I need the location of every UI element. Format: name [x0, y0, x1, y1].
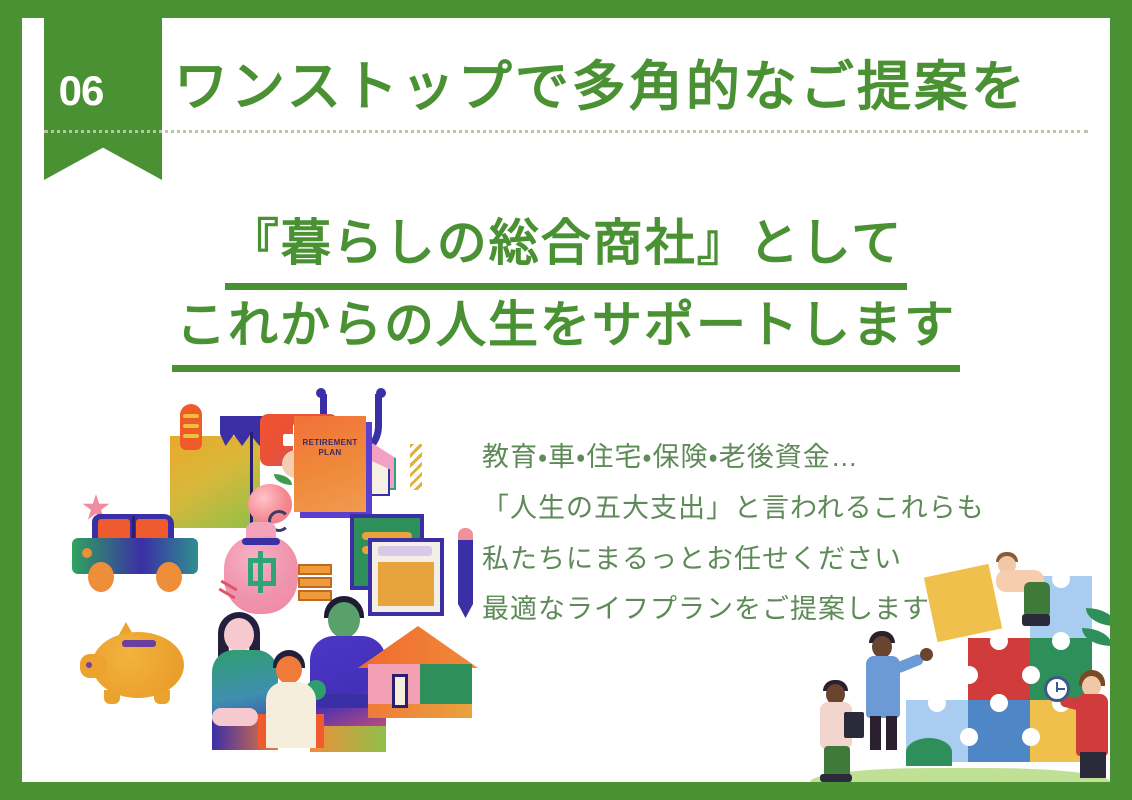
header-title: ワンストップで多角的なご提案を [174, 56, 1094, 118]
folder-label-line-1: RETIREMENT [303, 438, 358, 447]
worker-right-legs-icon [1080, 752, 1106, 778]
clock-hand-icon [1056, 682, 1058, 692]
piggy-bank-leg-icon [154, 690, 170, 704]
worker-top-legs-icon [1024, 582, 1050, 618]
body-line-1: 教育・車・住宅・保険・老後資金… [482, 432, 1102, 483]
puzzle-knob-icon [1022, 666, 1040, 684]
coin-stack-icon [298, 577, 332, 588]
puzzle-knob-icon [990, 632, 1008, 650]
worker-blue-leg-icon [886, 716, 897, 750]
family-father-head-icon [328, 602, 360, 638]
squiggle-icon [410, 444, 422, 490]
family-child-head-icon [276, 656, 302, 684]
puzzle-knob-icon [960, 728, 978, 746]
retirement-plan-folder-icon [294, 416, 366, 512]
stethoscope-earpiece-icon [316, 388, 326, 398]
body-line-2: 「人生の五大支出」と言われるこれらも [482, 483, 1102, 534]
money-bag-tie-icon [242, 538, 280, 545]
family-child-icon [266, 682, 316, 748]
house-base-icon [368, 704, 472, 718]
puzzle-knob-icon [1022, 728, 1040, 746]
coin-stack-icon [298, 564, 332, 575]
grass-ground-icon [810, 768, 1110, 782]
life-expenses-illustration-group: RETIREMENT PLAN [62, 388, 492, 788]
money-symbol-icon [258, 551, 263, 593]
teamwork-puzzle-illustration-group [810, 552, 1110, 782]
worker-blue-leg-icon [870, 716, 881, 750]
puzzle-piece-held-icon [924, 564, 1002, 642]
headline-line-1: 『暮らしの総合商社』として [225, 208, 908, 290]
piggy-bank-snout-icon [80, 654, 106, 678]
section-number-label: 06 [22, 70, 140, 112]
worker-left-boot-icon [820, 774, 852, 782]
clock-hand-icon [1056, 688, 1065, 690]
slide-canvas: 06 ワンストップで多角的なご提案を 『暮らしの総合商社』として これからの人生… [22, 18, 1110, 782]
puzzle-knob-icon [1052, 570, 1070, 588]
folder-label-line-2: PLAN [319, 448, 342, 457]
family-mother-arm-icon [212, 708, 258, 726]
bread-line-icon [183, 414, 199, 418]
puzzle-knob-icon [928, 694, 946, 712]
puzzle-knob-icon [1052, 632, 1070, 650]
stethoscope-earpiece-icon [376, 388, 386, 398]
house-door-icon [392, 674, 408, 708]
header-dotted-divider [44, 130, 1088, 133]
piggy-bank-nose-icon [86, 662, 92, 668]
headline-line-2: これからの人生をサポートします [172, 290, 960, 372]
bread-icon [180, 404, 202, 450]
bread-line-icon [183, 424, 199, 428]
worker-blue-head-icon [872, 636, 892, 658]
pen-icon [458, 540, 473, 604]
car-headlight-icon [82, 548, 92, 558]
car-wheel-icon [156, 562, 182, 592]
bush-icon [906, 738, 952, 766]
worker-top-boot-icon [1022, 614, 1050, 626]
family-mother-head-icon [224, 618, 254, 652]
piggy-bank-leg-icon [104, 690, 120, 704]
car-wheel-icon [88, 562, 114, 592]
notebook-label-icon [378, 546, 432, 556]
puzzle-knob-icon [990, 694, 1008, 712]
worker-blue-hand-icon [920, 648, 933, 661]
puzzle-knob-icon [960, 666, 978, 684]
retirement-plan-folder-label: RETIREMENT PLAN [294, 438, 366, 458]
slide-header: 06 ワンストップで多角的なご提案を [22, 18, 1110, 168]
notebook-cover-icon [378, 562, 434, 606]
headline: 『暮らしの総合商社』として これからの人生をサポートします [22, 208, 1110, 372]
bread-line-icon [183, 434, 199, 438]
pen-tip-icon [458, 604, 473, 618]
coin-stack-icon [298, 590, 332, 601]
clipboard-icon [844, 712, 864, 738]
slide-root: 06 ワンストップで多角的なご提案を 『暮らしの総合商社』として これからの人生… [0, 0, 1132, 800]
piggy-bank-slot-icon [122, 640, 156, 647]
